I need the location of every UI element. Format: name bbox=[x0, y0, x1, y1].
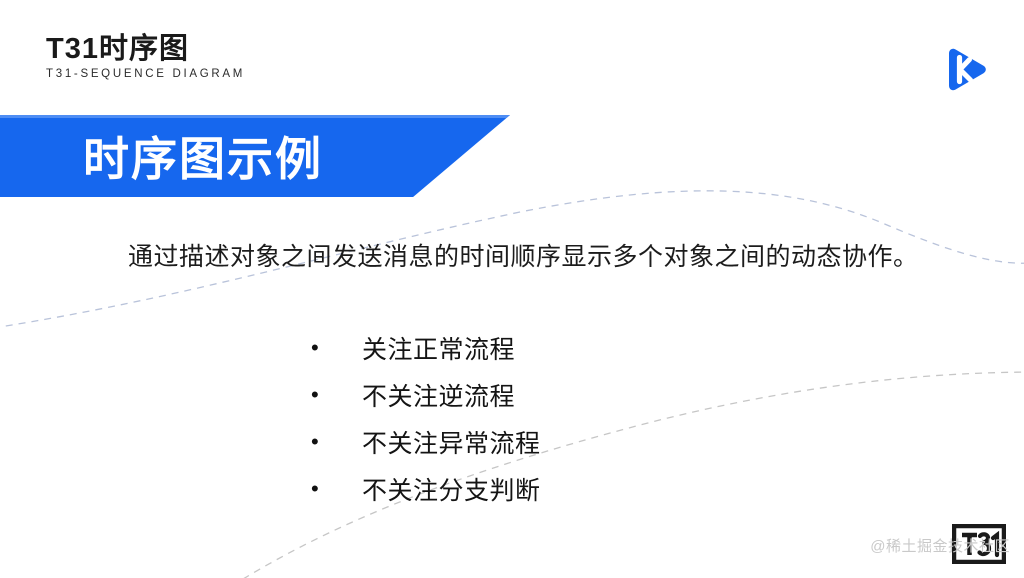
list-item: • 关注正常流程 bbox=[306, 324, 541, 371]
list-item: • 不关注异常流程 bbox=[306, 418, 541, 465]
bullet-text: 不关注异常流程 bbox=[362, 424, 541, 460]
banner-title: 时序图示例 bbox=[83, 123, 323, 189]
k-play-logo-icon bbox=[940, 44, 990, 94]
bullet-marker-icon: • bbox=[306, 431, 362, 453]
bullet-text: 关注正常流程 bbox=[362, 330, 515, 366]
slide-header: T31时序图 T31-SEQUENCE DIAGRAM bbox=[46, 34, 245, 80]
bullet-text: 不关注分支判断 bbox=[362, 471, 541, 507]
list-item: • 不关注分支判断 bbox=[306, 465, 541, 512]
watermark-text: @稀土掘金技术社区 bbox=[870, 535, 1010, 556]
list-item: • 不关注逆流程 bbox=[306, 371, 541, 418]
bullet-marker-icon: • bbox=[306, 384, 362, 406]
banner-top-accent bbox=[0, 115, 510, 118]
slide-canvas: T31时序图 T31-SEQUENCE DIAGRAM 时序图示例 通过描述对象… bbox=[0, 0, 1024, 578]
watermark: @稀土掘金技术社区 bbox=[870, 518, 1010, 562]
bullet-text: 不关注逆流程 bbox=[362, 377, 515, 413]
bullet-marker-icon: • bbox=[306, 337, 362, 359]
header-title: T31时序图 bbox=[46, 34, 245, 64]
header-subtitle: T31-SEQUENCE DIAGRAM bbox=[46, 68, 245, 80]
lead-paragraph: 通过描述对象之间发送消息的时间顺序显示多个对象之间的动态协作。 bbox=[128, 237, 919, 273]
bullet-list: • 关注正常流程 • 不关注逆流程 • 不关注异常流程 • 不关注分支判断 bbox=[306, 324, 541, 512]
bullet-marker-icon: • bbox=[306, 478, 362, 500]
